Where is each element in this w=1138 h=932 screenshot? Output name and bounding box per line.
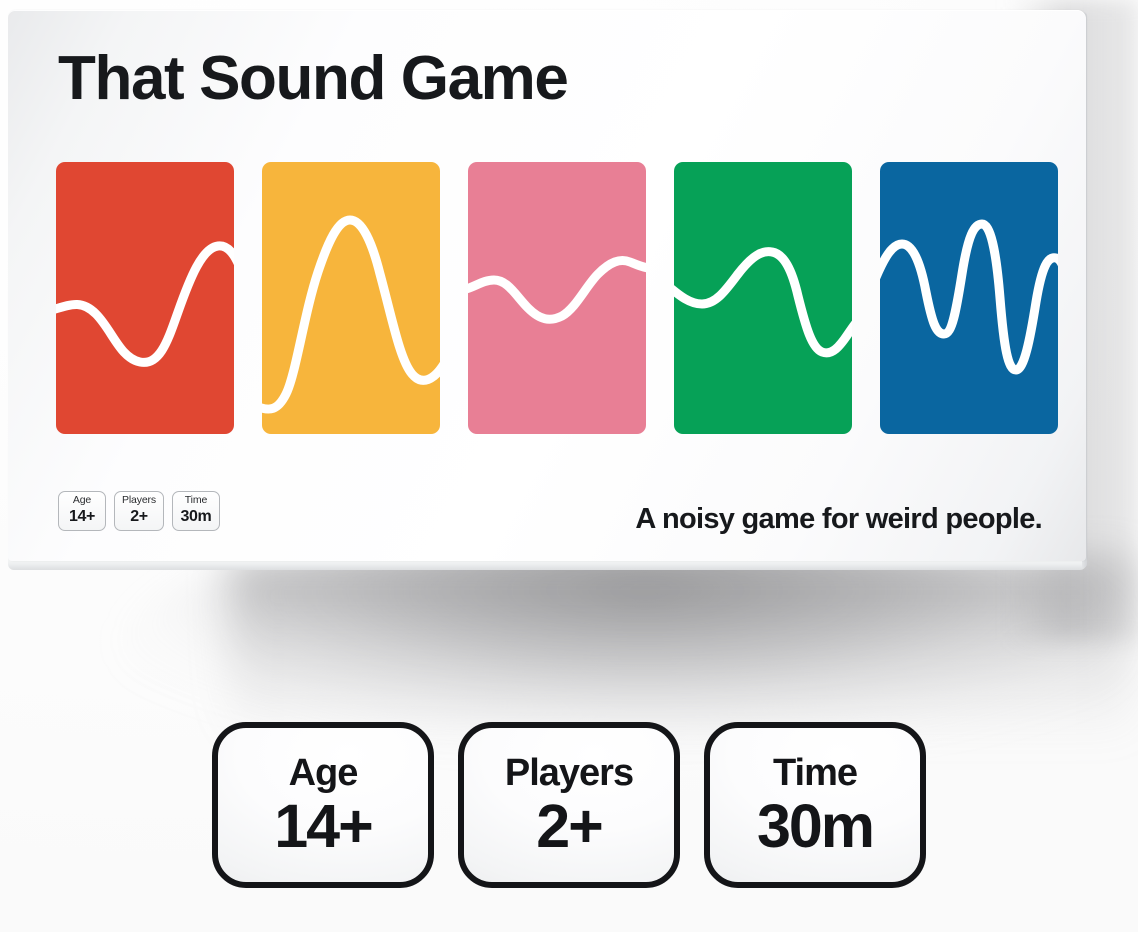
spec-badge-label: Time — [773, 754, 857, 792]
game-box-front-panel: That Sound Game Age14+Players2+Time30m A… — [8, 10, 1086, 561]
card-pink — [468, 162, 646, 434]
spec-badge-value: 14+ — [274, 796, 371, 857]
waveform-green — [674, 162, 852, 434]
box-badge-label: Players — [122, 495, 156, 507]
card-green — [674, 162, 852, 434]
box-badge-value: 14+ — [66, 508, 98, 526]
box-contact-shadow — [230, 560, 1130, 740]
box-badge-players: Players2+ — [114, 491, 164, 531]
product-tagline: A noisy game for weird people. — [635, 503, 1042, 536]
spec-badge-time: Time30m — [704, 722, 926, 888]
box-badge-label: Age — [66, 495, 98, 507]
card-yellow — [262, 162, 440, 434]
card-blue — [880, 162, 1058, 434]
spec-badge-age: Age14+ — [212, 722, 434, 888]
waveform-red — [56, 162, 234, 434]
box-badge-time: Time30m — [172, 491, 220, 531]
box-badge-age: Age14+ — [58, 491, 106, 531]
waveform-blue — [880, 162, 1058, 434]
spec-badge-row: Age14+Players2+Time30m — [0, 722, 1138, 888]
product-photo-stage: That Sound Game Age14+Players2+Time30m A… — [0, 0, 1138, 932]
sound-card-row — [56, 162, 1046, 434]
spec-badge-value: 2+ — [536, 796, 602, 857]
product-title: That Sound Game — [58, 46, 567, 112]
waveform-pink — [468, 162, 646, 434]
spec-badge-value: 30m — [757, 796, 873, 857]
spec-badge-label: Players — [505, 754, 633, 792]
card-red — [56, 162, 234, 434]
spec-badge-label: Age — [289, 754, 358, 792]
box-badge-value: 2+ — [122, 508, 156, 526]
box-badge-value: 30m — [180, 508, 212, 526]
box-spec-badge-group: Age14+Players2+Time30m — [58, 491, 220, 531]
spec-badge-players: Players2+ — [458, 722, 680, 888]
box-badge-label: Time — [180, 495, 212, 507]
waveform-yellow — [262, 162, 440, 434]
